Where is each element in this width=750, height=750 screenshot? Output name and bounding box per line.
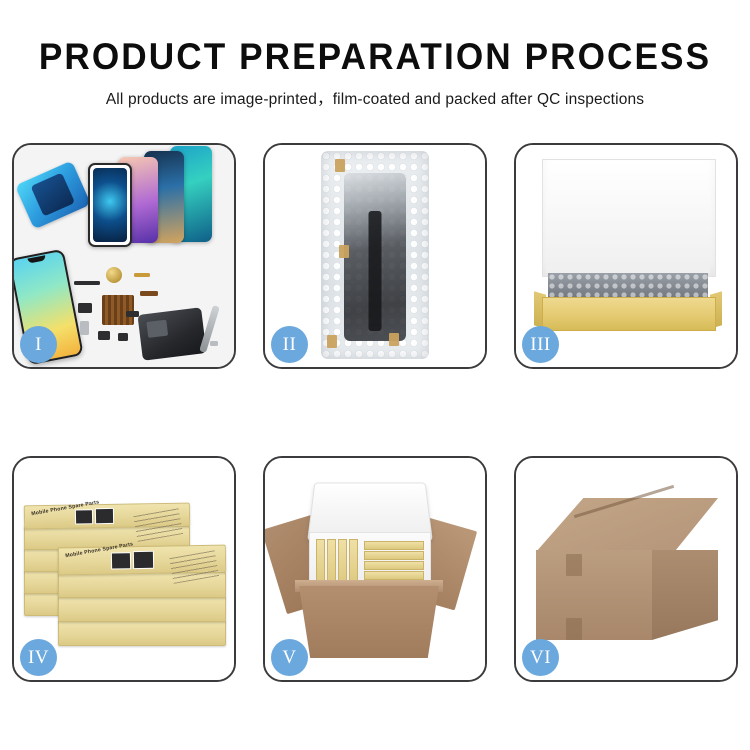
inner-box bbox=[364, 541, 424, 550]
bubble-wrap-bag bbox=[321, 151, 429, 359]
tape-piece bbox=[339, 245, 349, 258]
process-step-1: I bbox=[12, 143, 236, 369]
step-badge-3: III bbox=[522, 326, 559, 363]
step-badge-6: VI bbox=[522, 639, 559, 676]
back-housing-part bbox=[137, 307, 206, 360]
carton-body bbox=[299, 586, 439, 658]
screen-protector-icon bbox=[15, 160, 91, 229]
inner-box bbox=[338, 539, 347, 585]
box-window bbox=[133, 551, 154, 569]
display-module-1 bbox=[88, 163, 132, 247]
wrapped-items-row bbox=[548, 273, 708, 299]
process-step-6: VI bbox=[514, 456, 738, 682]
carton-tab bbox=[566, 554, 582, 576]
speaker-part bbox=[106, 267, 122, 283]
page-title: PRODUCT PREPARATION PROCESS bbox=[19, 38, 732, 75]
page-subtitle: All products are image-printed，film-coat… bbox=[0, 87, 750, 109]
small-part bbox=[74, 281, 100, 285]
box-stack: Mobile Phone Spare Parts Mobile Phone Sp… bbox=[24, 470, 228, 666]
box-window bbox=[75, 509, 93, 524]
inner-box bbox=[316, 539, 325, 585]
small-part bbox=[126, 311, 139, 317]
step-badge-5: V bbox=[271, 639, 308, 676]
logic-board-part bbox=[102, 295, 134, 325]
foam-sheet bbox=[546, 193, 710, 273]
inner-box bbox=[327, 539, 336, 585]
tape-piece bbox=[335, 159, 345, 172]
stacked-box-front-top: Mobile Phone Spare Parts bbox=[58, 545, 226, 576]
small-part bbox=[80, 321, 89, 335]
inner-box bbox=[349, 539, 358, 585]
tape-piece bbox=[389, 333, 399, 346]
step-badge-1: I bbox=[20, 326, 57, 363]
process-step-4: Mobile Phone Spare Parts Mobile Phone Sp… bbox=[12, 456, 236, 682]
small-part bbox=[134, 273, 150, 277]
step-badge-4: IV bbox=[20, 639, 57, 676]
process-step-3: III bbox=[514, 143, 738, 369]
small-part bbox=[78, 303, 92, 313]
box-window bbox=[95, 508, 114, 524]
small-part bbox=[210, 341, 218, 346]
flex-cable bbox=[369, 211, 382, 331]
stacked-box bbox=[58, 596, 226, 622]
box-window bbox=[111, 552, 131, 569]
small-part bbox=[140, 291, 158, 296]
small-part bbox=[118, 333, 128, 341]
small-part bbox=[98, 331, 110, 340]
carton-front-face bbox=[536, 550, 652, 640]
tape-piece bbox=[327, 335, 337, 348]
carton-top-face bbox=[536, 498, 718, 552]
inner-box bbox=[364, 551, 424, 560]
inner-box bbox=[364, 571, 424, 580]
process-grid: I II III bbox=[12, 143, 738, 682]
kraft-box-front bbox=[542, 297, 716, 331]
carton-side-face bbox=[652, 550, 718, 640]
header: PRODUCT PREPARATION PROCESS All products… bbox=[0, 0, 750, 109]
carton-tab bbox=[566, 618, 582, 640]
stacked-box-top: Mobile Phone Spare Parts bbox=[24, 503, 190, 530]
inner-box bbox=[364, 561, 424, 570]
step-badge-2: II bbox=[271, 326, 308, 363]
process-step-5: V bbox=[263, 456, 487, 682]
process-step-2: II bbox=[263, 143, 487, 369]
stacked-box bbox=[58, 620, 226, 646]
